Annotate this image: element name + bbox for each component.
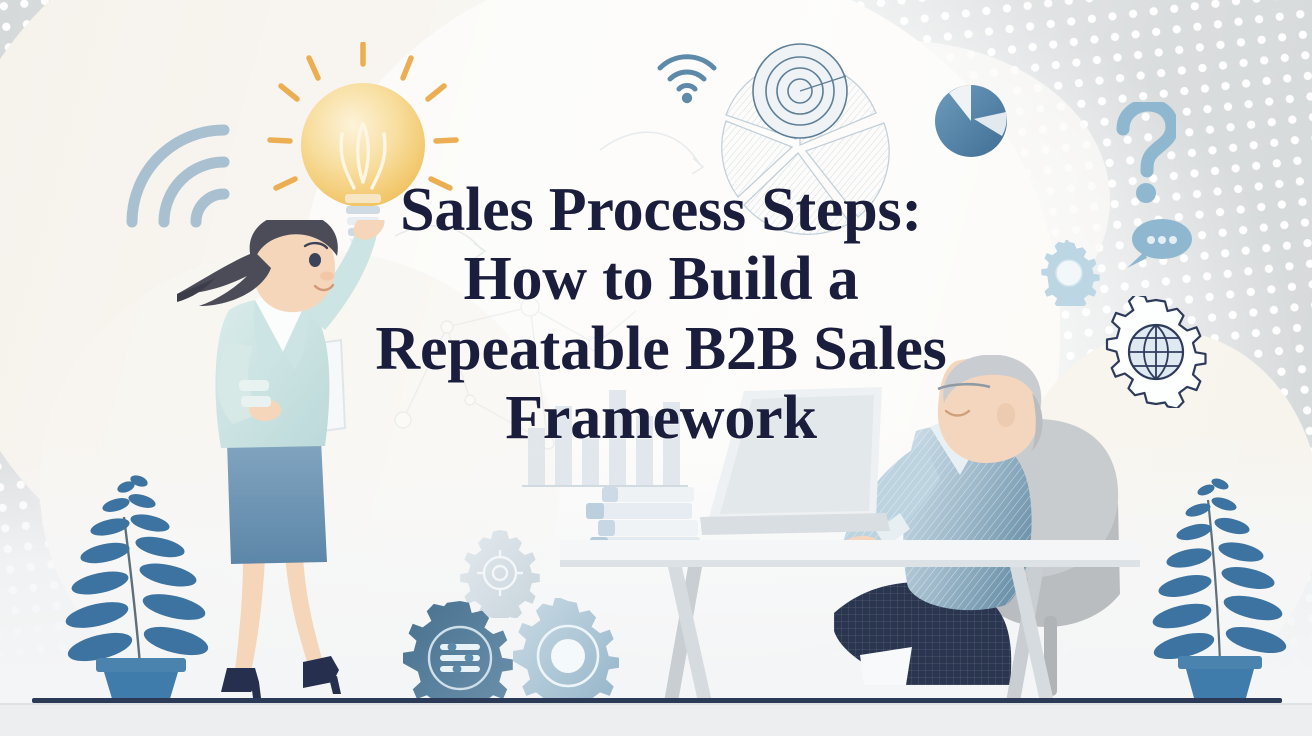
wifi-signal-icon: [120, 118, 250, 228]
desk: [560, 540, 1140, 705]
floor-line-secondary: [0, 703, 1312, 705]
wifi-icon: [655, 50, 719, 104]
potted-plant-right: [1140, 460, 1300, 705]
page-title: Sales Process Steps: How to Build a Repe…: [256, 176, 1066, 454]
title-line-3: Repeatable B2B Sales: [256, 315, 1066, 384]
banner-illustration: Sales Process Steps: How to Build a Repe…: [0, 0, 1312, 736]
pie-chart-filled-icon: [932, 82, 1010, 160]
question-mark-icon: [1112, 102, 1176, 210]
title-line-2: How to Build a: [256, 245, 1066, 314]
title-line-1: Sales Process Steps:: [256, 176, 1066, 245]
title-line-4: Framework: [256, 384, 1066, 453]
chat-bubble-icon: [1124, 216, 1194, 272]
floor-band: [0, 703, 1312, 736]
radar-target-icon: [745, 36, 855, 146]
